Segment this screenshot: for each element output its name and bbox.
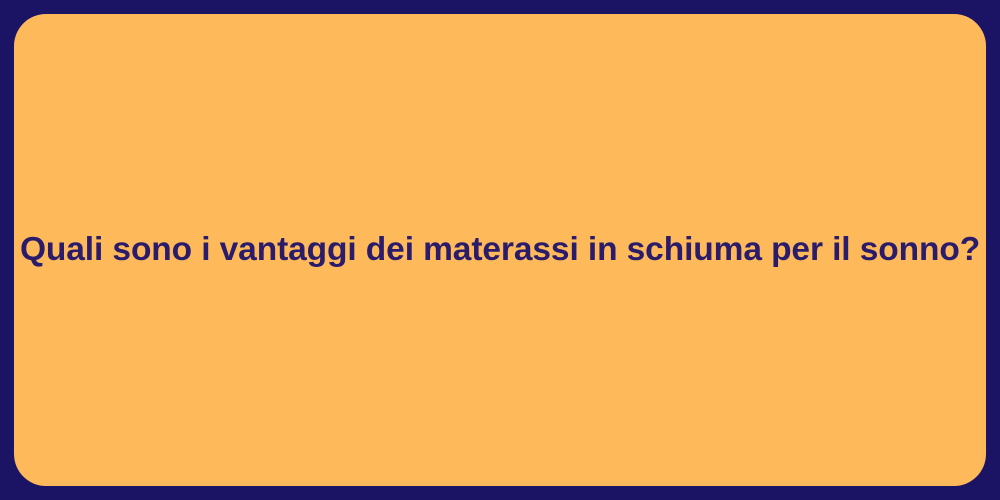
page-title: Quali sono i vantaggi dei materassi in s… <box>20 229 980 271</box>
question-card: Quali sono i vantaggi dei materassi in s… <box>14 14 986 486</box>
poster-frame: Quali sono i vantaggi dei materassi in s… <box>0 0 1000 500</box>
